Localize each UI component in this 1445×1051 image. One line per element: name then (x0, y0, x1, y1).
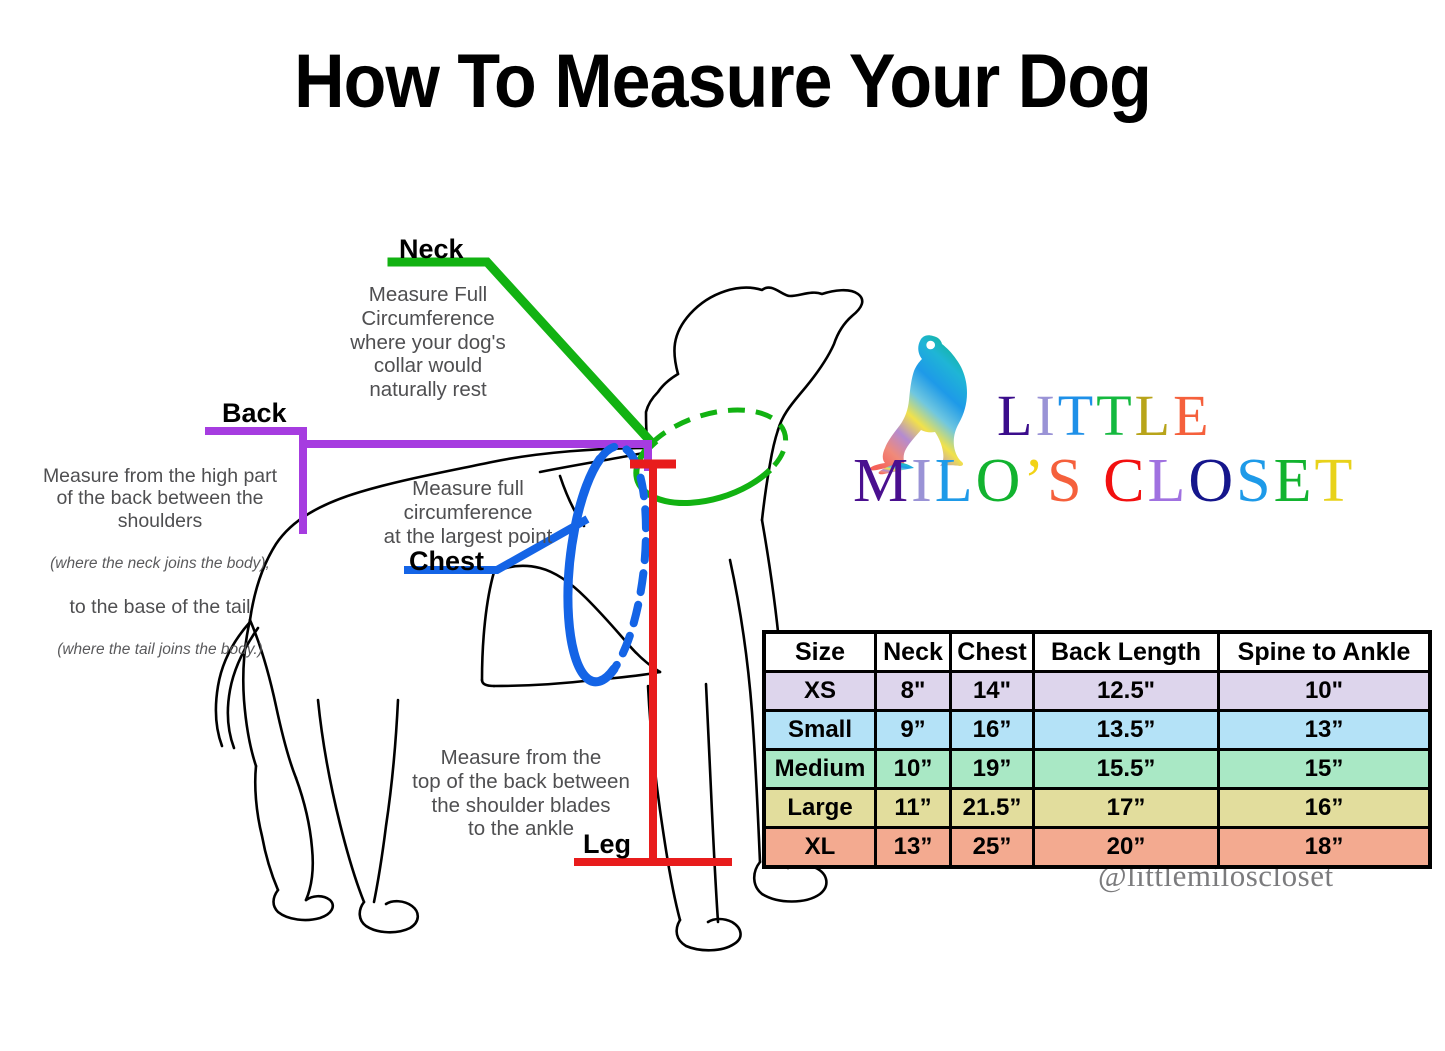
cell-chest: 21.5” (951, 789, 1034, 828)
cell-size: Small (764, 711, 876, 750)
column-header-back-length: Back Length (1034, 632, 1219, 672)
back-description-line-2: (where the neck joins the body), (18, 555, 302, 573)
logo-letter: ’ (1023, 450, 1047, 512)
logo-letter: O (976, 450, 1024, 512)
cell-spine-to-ankle: 18” (1219, 828, 1431, 868)
cell-size: Large (764, 789, 876, 828)
logo-letter: I (911, 450, 935, 512)
cell-size: XL (764, 828, 876, 868)
size-chart-table: Size Neck Chest Back Length Spine to Ank… (762, 630, 1432, 869)
table-row: XS8"14"12.5"10" (764, 672, 1430, 711)
cell-neck: 9” (876, 711, 951, 750)
table-row: Large11”21.5”17”16” (764, 789, 1430, 828)
logo-letter: L (1135, 387, 1173, 445)
column-header-chest: Chest (951, 632, 1034, 672)
logo-letter: T (1096, 387, 1134, 445)
cell-neck: 13” (876, 828, 951, 868)
cell-chest: 16” (951, 711, 1034, 750)
logo-letter: I (1035, 387, 1057, 445)
back-description-line-1: Measure from the high part of the back b… (18, 465, 302, 533)
cell-back-length: 12.5" (1034, 672, 1219, 711)
cell-back-length: 17” (1034, 789, 1219, 828)
cell-spine-to-ankle: 10" (1219, 672, 1431, 711)
cell-back-length: 15.5” (1034, 750, 1219, 789)
cell-neck: 11” (876, 789, 951, 828)
logo-letter: O (1188, 450, 1236, 512)
logo-letter: T (1058, 387, 1096, 445)
brand-logo: LITTLE MILO’S CLOSET (840, 330, 1350, 520)
logo-letter: T (1314, 450, 1355, 512)
cell-size: XS (764, 672, 876, 711)
cell-chest: 14" (951, 672, 1034, 711)
column-header-size: Size (764, 632, 876, 672)
logo-letter: S (1047, 450, 1084, 512)
cell-spine-to-ankle: 16” (1219, 789, 1431, 828)
back-description-line-3: to the base of the tail (18, 596, 302, 619)
table-header-row: Size Neck Chest Back Length Spine to Ank… (764, 632, 1430, 672)
chest-label: Chest (409, 546, 484, 577)
logo-letter: C (1103, 450, 1147, 512)
table-row: XL13”25”20”18” (764, 828, 1430, 868)
cell-spine-to-ankle: 15” (1219, 750, 1431, 789)
back-description: Measure from the high part of the back b… (18, 442, 302, 681)
column-header-spine-to-ankle: Spine to Ankle (1219, 632, 1431, 672)
table-row: Small9”16”13.5”13” (764, 711, 1430, 750)
logo-letter: M (853, 450, 911, 512)
leg-description: Measure from the top of the back between… (396, 746, 646, 841)
cell-chest: 19” (951, 750, 1034, 789)
logo-letter: E (1173, 387, 1211, 445)
cell-chest: 25” (951, 828, 1034, 868)
logo-letter (1085, 450, 1104, 512)
cell-neck: 8" (876, 672, 951, 711)
logo-letter: E (1274, 450, 1315, 512)
back-description-line-4: (where the tail joins the body.) (18, 641, 302, 659)
chest-description: Measure full circumference at the larges… (376, 477, 560, 548)
table-row: Medium10”19”15.5”15” (764, 750, 1430, 789)
logo-letter: L (1147, 450, 1188, 512)
column-header-neck: Neck (876, 632, 951, 672)
cell-back-length: 13.5” (1034, 711, 1219, 750)
back-label: Back (222, 398, 287, 429)
logo-letter: L (997, 387, 1035, 445)
logo-letter: S (1236, 450, 1273, 512)
cell-size: Medium (764, 750, 876, 789)
neck-label: Neck (399, 234, 464, 265)
cell-spine-to-ankle: 13” (1219, 711, 1431, 750)
cell-back-length: 20” (1034, 828, 1219, 868)
cell-neck: 10” (876, 750, 951, 789)
measurement-guide-page: How To Measure Your Dog (0, 0, 1445, 1051)
logo-wordmark-little: LITTLE (997, 387, 1212, 445)
logo-letter: L (935, 450, 976, 512)
neck-description: Measure Full Circumference where your do… (328, 283, 528, 402)
logo-wordmark-milos-closet: MILO’S CLOSET (853, 450, 1355, 512)
